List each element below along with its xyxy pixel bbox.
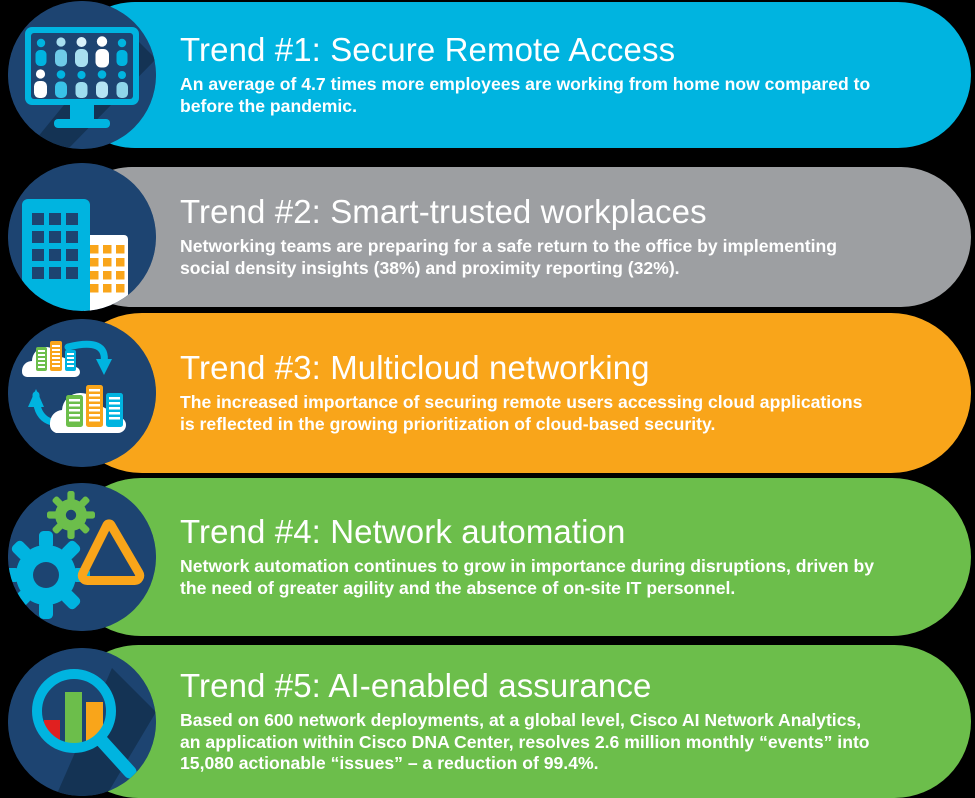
trend-title-5: Trend #5: AI-enabled assurance xyxy=(180,668,927,705)
trend-row-3: Trend #3: Multicloud networking The incr… xyxy=(0,313,975,473)
trend-row-2: Trend #2: Smart-trusted workplaces Netwo… xyxy=(0,167,975,307)
trend-title-3: Trend #3: Multicloud networking xyxy=(180,350,927,387)
trend-text-4: Trend #4: Network automation Network aut… xyxy=(180,478,927,636)
infographic-canvas: Trend #1: Secure Remote Access An averag… xyxy=(0,0,975,798)
remote-workers-monitor-icon xyxy=(8,1,156,149)
multicloud-servers-icon xyxy=(8,319,156,467)
trend-title-2: Trend #2: Smart-trusted workplaces xyxy=(180,194,927,231)
trend-text-2: Trend #2: Smart-trusted workplaces Netwo… xyxy=(180,167,927,307)
office-buildings-icon xyxy=(8,163,156,311)
trend-title-1: Trend #1: Secure Remote Access xyxy=(180,32,927,69)
trend-badge-4 xyxy=(8,483,156,631)
magnifier-bar-chart-icon xyxy=(8,648,156,796)
trend-description-2: Networking teams are preparing for a saf… xyxy=(180,236,880,280)
trend-row-4: Trend #4: Network automation Network aut… xyxy=(0,478,975,636)
trend-description-1: An average of 4.7 times more employees a… xyxy=(180,74,880,118)
trend-badge-3 xyxy=(8,319,156,467)
trend-row-5: Trend #5: AI-enabled assurance Based on … xyxy=(0,645,975,798)
trend-description-4: Network automation continues to grow in … xyxy=(180,556,880,600)
trend-text-3: Trend #3: Multicloud networking The incr… xyxy=(180,313,927,473)
trend-description-5: Based on 600 network deployments, at a g… xyxy=(180,710,880,775)
trend-badge-2 xyxy=(8,163,156,311)
trend-text-1: Trend #1: Secure Remote Access An averag… xyxy=(180,2,927,148)
trend-row-1: Trend #1: Secure Remote Access An averag… xyxy=(0,2,975,148)
trend-text-5: Trend #5: AI-enabled assurance Based on … xyxy=(180,645,927,798)
trend-description-3: The increased importance of securing rem… xyxy=(180,392,880,436)
trend-badge-5 xyxy=(8,648,156,796)
trend-title-4: Trend #4: Network automation xyxy=(180,514,927,551)
trend-badge-1 xyxy=(8,1,156,149)
gears-automation-icon xyxy=(8,483,156,631)
